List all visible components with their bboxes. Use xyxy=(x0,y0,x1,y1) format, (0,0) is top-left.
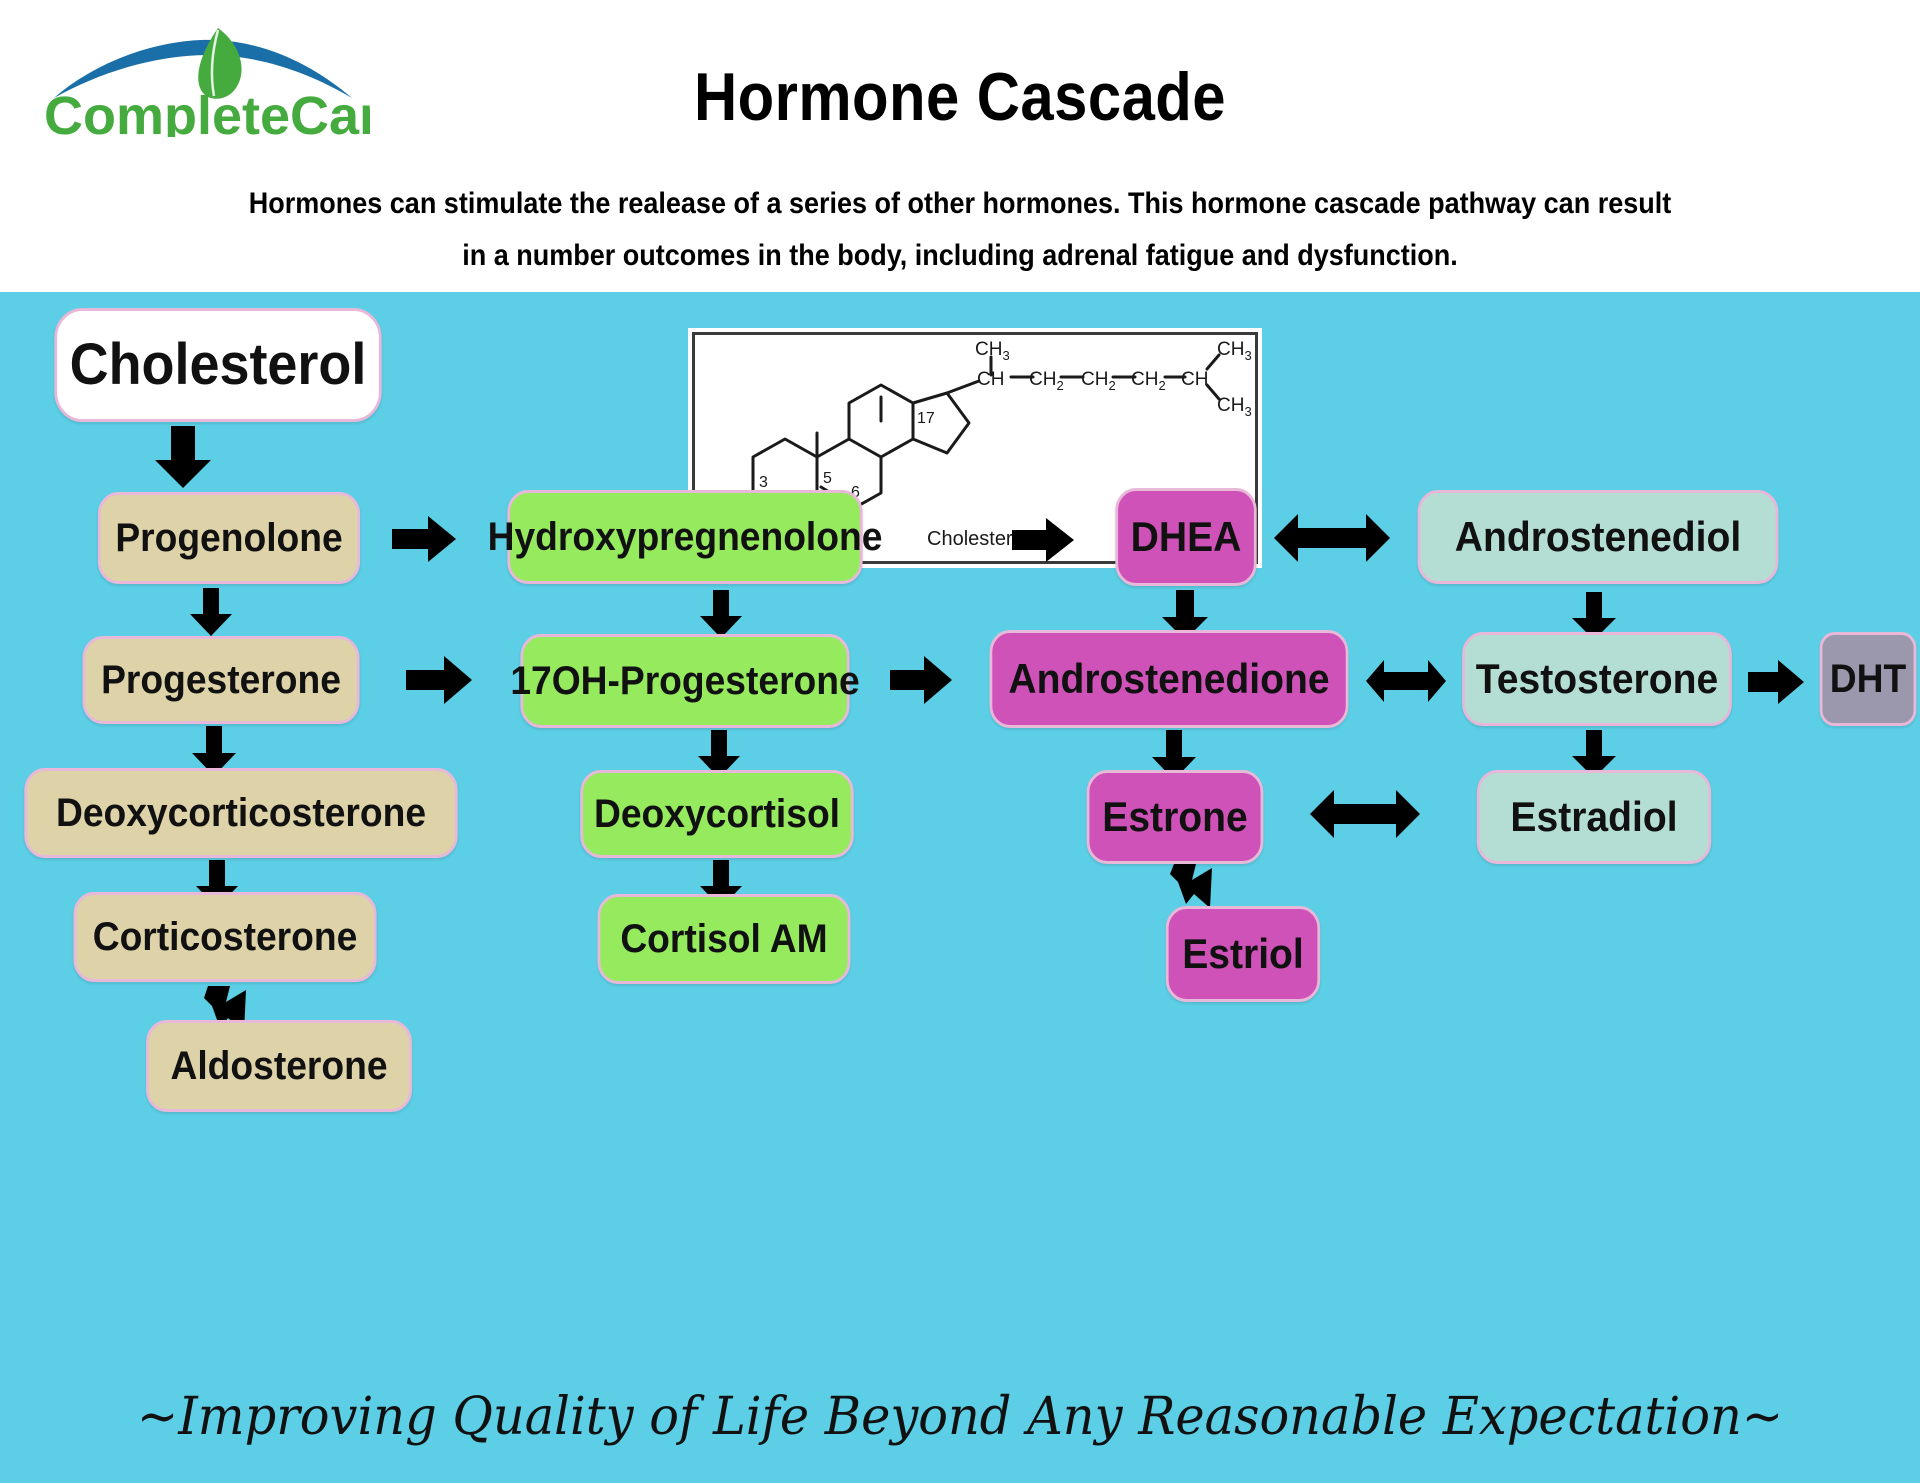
node-label: Cholesterol xyxy=(70,336,367,394)
header-band: CompleteCare Hormone Cascade Hormones ca… xyxy=(0,0,1920,292)
arrow-hydroxypregnenolone-to-dhea xyxy=(1012,518,1074,562)
node-label: Androstenediol xyxy=(1455,516,1741,558)
node-label: Estradiol xyxy=(1510,796,1677,838)
arrow-progenolone-to-progesterone xyxy=(190,588,232,636)
molecule-label-methyl-right-top: CH3 xyxy=(1217,339,1252,363)
cascade-canvas: HO 3 5 6 17 CH3 CH CH2 CH2 CH2 CH CH3 CH… xyxy=(0,292,1920,1483)
arrow-hydroxypregnenolone-to-17oh-progesterone xyxy=(700,590,742,638)
arrow-cholesterol-to-progenolone xyxy=(155,426,211,488)
node-cholesterol[interactable]: Cholesterol xyxy=(54,308,381,422)
molecule-label-c17: 17 xyxy=(917,410,935,427)
node-17oh-progesterone[interactable]: 17OH-Progesterone xyxy=(520,634,849,728)
arrow-androstenedione-testosterone-right xyxy=(1404,660,1446,702)
node-label: Deoxycorticosterone xyxy=(56,793,426,833)
node-label: DHT xyxy=(1830,659,1906,699)
node-cortisol-am[interactable]: Cortisol AM xyxy=(598,894,851,984)
node-label: 17OH-Progesterone xyxy=(510,661,859,701)
node-label: DHEA xyxy=(1131,516,1242,558)
node-progesterone[interactable]: Progesterone xyxy=(82,636,359,724)
arrow-estrone-estradiol-left xyxy=(1310,790,1366,838)
molecule-label-ch2-c: CH2 xyxy=(1131,369,1166,393)
node-estrone[interactable]: Estrone xyxy=(1087,770,1264,864)
molecule-label-ch2-b: CH2 xyxy=(1081,369,1116,393)
arrow-dhea-androstenediol-left xyxy=(1274,514,1332,562)
node-deoxycorticosterone[interactable]: Deoxycorticosterone xyxy=(24,768,457,858)
arrow-estrone-to-estriol xyxy=(1168,862,1216,912)
node-testosterone[interactable]: Testosterone xyxy=(1462,632,1732,726)
molecule-label-methyl-right-bottom: CH3 xyxy=(1217,395,1252,419)
node-hydroxypregnenolone[interactable]: Hydroxypregnenolone xyxy=(507,490,862,584)
arrow-estrone-estradiol-right xyxy=(1364,790,1420,838)
node-label: Estriol xyxy=(1182,933,1304,975)
arrow-17oh-progesterone-to-androstenedione xyxy=(890,656,952,704)
arrow-dhea-androstenediol-right xyxy=(1332,514,1390,562)
node-label: Progenolone xyxy=(115,518,342,558)
arrow-progesterone-to-17oh-progesterone xyxy=(406,656,472,704)
node-androstenedione[interactable]: Androstenedione xyxy=(990,630,1349,728)
node-estriol[interactable]: Estriol xyxy=(1166,906,1320,1002)
subtitle-line-1: Hormones can stimulate the realease of a… xyxy=(96,178,1824,230)
node-label: Androstenedione xyxy=(1008,658,1329,700)
node-label: Estrone xyxy=(1102,796,1247,838)
node-label: Cortisol AM xyxy=(620,919,827,959)
company-tagline: ~Improving Quality of Life Beyond Any Re… xyxy=(48,1387,1872,1447)
arrow-testosterone-to-dht xyxy=(1748,660,1804,704)
node-label: Testosterone xyxy=(1476,658,1718,700)
page-subtitle: Hormones can stimulate the realease of a… xyxy=(96,178,1824,282)
molecule-label-methyl-top: CH3 xyxy=(975,339,1010,363)
molecule-label-ch: CH xyxy=(977,369,1004,390)
node-label: Aldosterone xyxy=(170,1046,387,1086)
arrow-androstenedione-testosterone-left xyxy=(1366,660,1408,702)
molecule-label-ch-end: CH xyxy=(1181,369,1208,390)
page-title: Hormone Cascade xyxy=(115,58,1805,136)
node-estradiol[interactable]: Estradiol xyxy=(1477,770,1711,864)
node-progenolone[interactable]: Progenolone xyxy=(98,492,360,584)
node-label: Progesterone xyxy=(101,660,341,700)
molecule-label-ch2-a: CH2 xyxy=(1029,369,1064,393)
node-corticosterone[interactable]: Corticosterone xyxy=(73,892,376,982)
molecule-label-c5: 5 xyxy=(823,470,832,487)
node-deoxycortisol[interactable]: Deoxycortisol xyxy=(580,770,853,858)
node-androstenediol[interactable]: Androstenediol xyxy=(1418,490,1779,584)
molecule-label-c3: 3 xyxy=(759,474,768,491)
infographic-page: CompleteCare Hormone Cascade Hormones ca… xyxy=(0,0,1920,1483)
node-label: Deoxycortisol xyxy=(594,794,840,834)
node-label: Hydroxypregnenolone xyxy=(488,517,883,557)
node-aldosterone[interactable]: Aldosterone xyxy=(146,1020,412,1112)
node-dht[interactable]: DHT xyxy=(1820,632,1917,726)
arrow-progenolone-to-hydroxypregnenolone xyxy=(392,516,456,562)
node-label: Corticosterone xyxy=(93,917,358,957)
subtitle-line-2: in a number outcomes in the body, includ… xyxy=(96,230,1824,282)
node-dhea[interactable]: DHEA xyxy=(1115,488,1256,586)
